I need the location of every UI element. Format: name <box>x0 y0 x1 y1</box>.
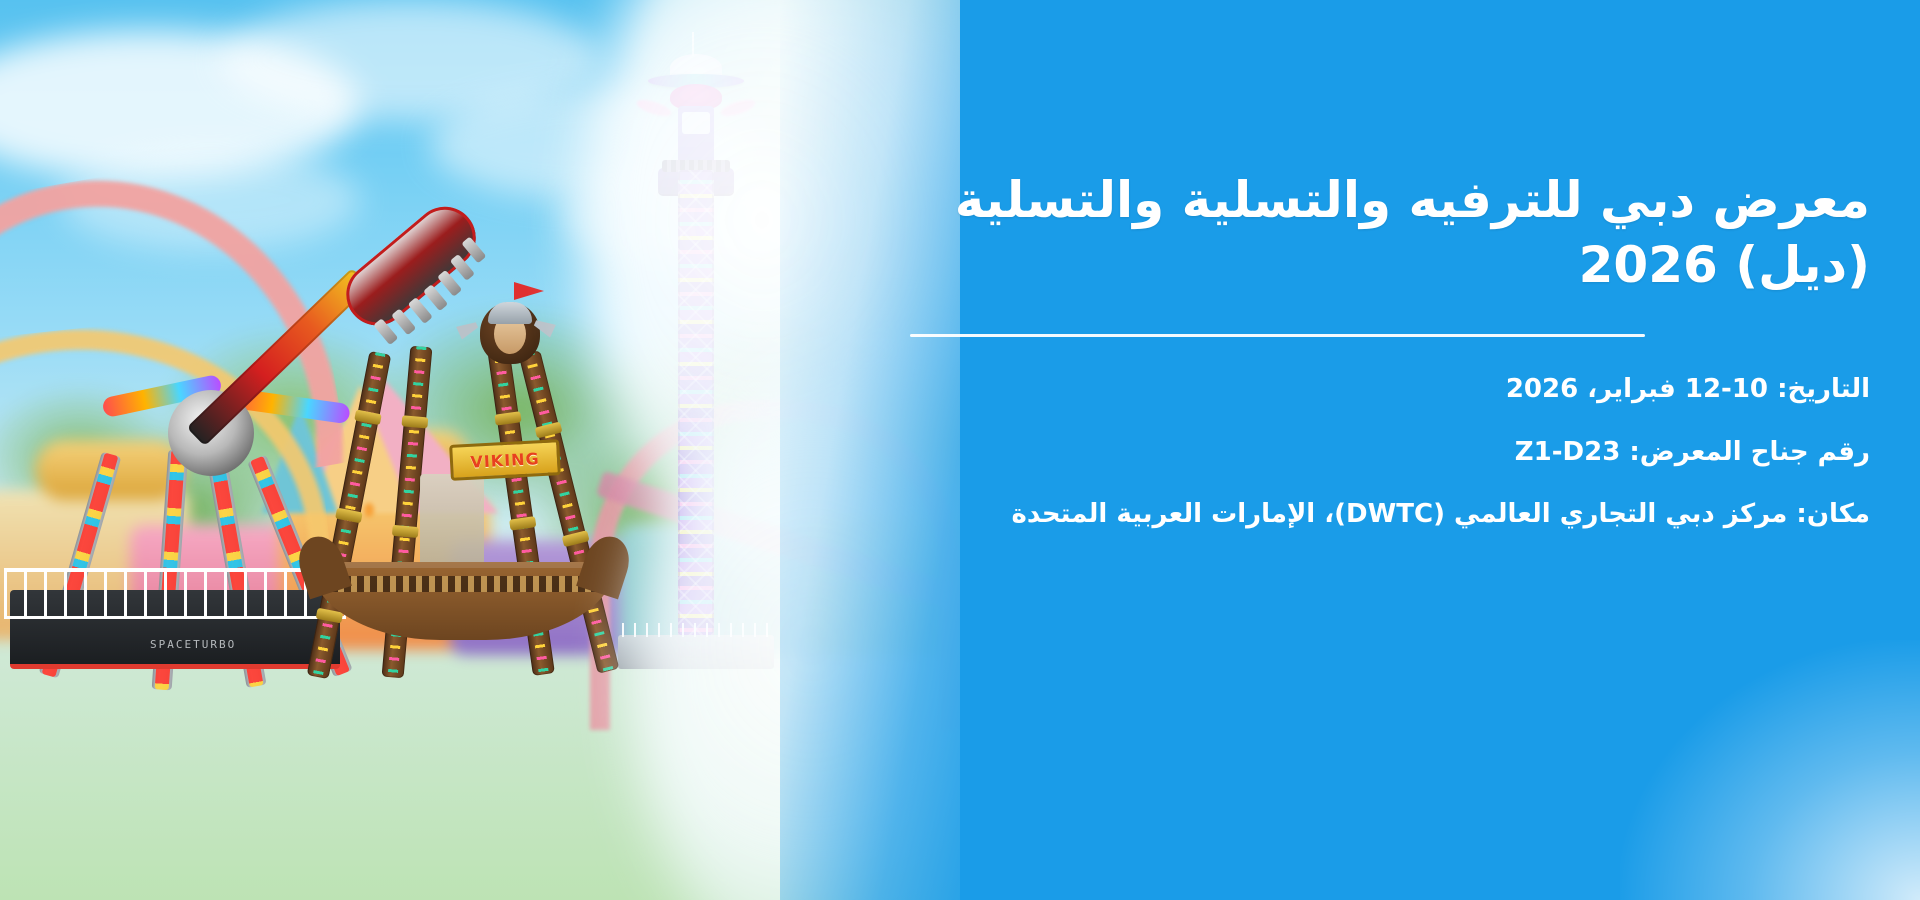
title-line-2: (ديل) 2026 <box>1579 236 1870 294</box>
event-date: التاريخ: 10-12 فبراير، 2026 <box>910 373 1870 406</box>
event-info: معرض دبي للترفيه والتسلية والتسلية (ديل)… <box>910 168 1870 531</box>
tower-cabin <box>678 106 714 168</box>
event-details: التاريخ: 10-12 فبراير، 2026 رقم جناح الم… <box>910 373 1870 531</box>
event-venue: مكان: مركز دبي التجاري العالمي (DWTC)، ا… <box>910 498 1870 531</box>
viking-boat-hull <box>310 562 616 640</box>
viking-center-structure <box>420 474 484 572</box>
platform-logo-text: SPACETURBO <box>150 638 236 651</box>
title-line-1: معرض دبي للترفيه والتسلية والتسلية <box>955 171 1870 229</box>
viking-ship-ride: VIKING <box>300 290 630 690</box>
event-banner: SPACETURBO <box>0 0 1920 900</box>
title-divider <box>910 334 1645 337</box>
page-title: معرض دبي للترفيه والتسلية والتسلية (ديل)… <box>910 168 1870 298</box>
viking-figurehead <box>442 296 552 370</box>
tower-lattice <box>678 170 714 658</box>
panel-corner-glow <box>1620 640 1920 900</box>
platform-railing <box>4 568 346 619</box>
viking-sign: VIKING <box>449 439 561 481</box>
viking-sign-text: VIKING <box>470 449 540 472</box>
event-booth-number: رقم جناح المعرض: Z1-D23 <box>910 436 1870 469</box>
